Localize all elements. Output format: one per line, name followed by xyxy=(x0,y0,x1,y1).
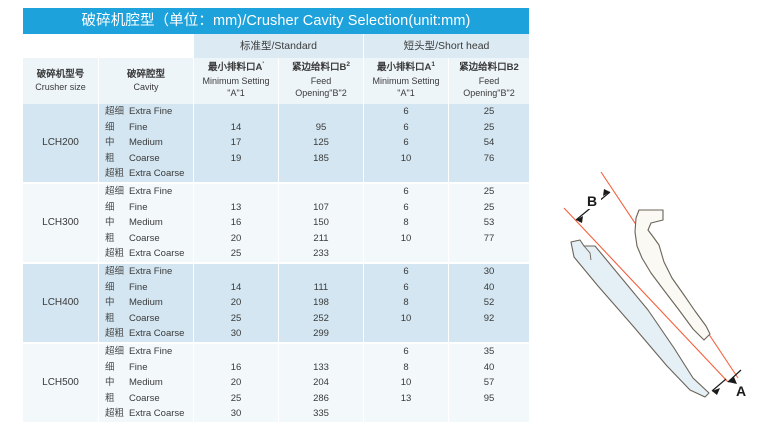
cell-cavity-cn: 粗 xyxy=(105,231,129,247)
cell-cavity-cn: 超细 xyxy=(105,344,129,360)
cell-cavity-en: Coarse xyxy=(129,151,160,167)
column-header-std-feed-opening: 紧边给料口B2 Feed Opening"B"2 xyxy=(279,58,363,104)
cell-std-min-setting: 17 xyxy=(194,135,278,151)
table-row: 超粗Extra Coarse30299 xyxy=(23,326,529,342)
cell-sh-feed-opening: 40 xyxy=(449,360,529,376)
cell-std-min-setting xyxy=(194,104,278,120)
cell-cavity-en: Extra Coarse xyxy=(129,326,184,342)
table-row: 超粗Extra Coarse30335 xyxy=(23,406,529,422)
page-root: 破碎机腔型（单位：mm)/Crusher Cavity Selection(un… xyxy=(0,0,766,442)
cell-std-feed-opening: 150 xyxy=(279,215,363,231)
cell-sh-min-setting: 6 xyxy=(364,280,448,296)
column-header-crusher-size-cn: 破碎机型号 xyxy=(23,69,98,82)
cell-std-feed-opening: 286 xyxy=(279,391,363,407)
cell-std-min-setting: 20 xyxy=(194,295,278,311)
cell-std-feed-opening: 204 xyxy=(279,375,363,391)
cell-std-feed-opening xyxy=(279,184,363,200)
cell-std-feed-opening xyxy=(279,166,363,182)
cell-std-feed-opening: 335 xyxy=(279,406,363,422)
cell-cavity-en: Coarse xyxy=(129,391,160,407)
cell-std-min-setting: 30 xyxy=(194,326,278,342)
cell-cavity-en: Extra Coarse xyxy=(129,406,184,422)
column-header-sh-feed-opening-en2: Opening"B"2 xyxy=(449,87,529,100)
cell-cavity-cn: 中 xyxy=(105,375,129,391)
group-header-row: 标准型/Standard 短头型/Short head xyxy=(23,34,529,58)
cell-sh-min-setting xyxy=(364,326,448,342)
cell-cavity-cn: 细 xyxy=(105,280,129,296)
column-header-cavity-en: Cavity xyxy=(99,81,193,94)
group-header-blank-left2 xyxy=(99,34,193,58)
cell-sh-min-setting: 13 xyxy=(364,391,448,407)
cell-cavity: 粗Coarse xyxy=(99,311,193,327)
arrow-head-a-lower xyxy=(712,388,720,395)
cell-cavity: 超粗Extra Coarse xyxy=(99,166,193,182)
cell-cavity-cn: 超粗 xyxy=(105,246,129,262)
cell-cavity-en: Extra Fine xyxy=(129,344,172,360)
column-header-std-min-setting-sup: ' xyxy=(262,61,264,68)
cell-std-min-setting: 16 xyxy=(194,360,278,376)
group-header-standard: 标准型/Standard xyxy=(194,34,363,58)
cell-cavity: 中Medium xyxy=(99,215,193,231)
cell-sh-min-setting xyxy=(364,166,448,182)
cell-cavity-cn: 中 xyxy=(105,295,129,311)
cell-cavity-cn: 超粗 xyxy=(105,166,129,182)
cell-std-min-setting: 25 xyxy=(194,311,278,327)
cell-cavity-cn: 中 xyxy=(105,215,129,231)
crusher-cavity-table-container: 破碎机腔型（单位：mm)/Crusher Cavity Selection(un… xyxy=(22,8,528,422)
column-header-sh-min-setting-sup: 1 xyxy=(431,61,435,68)
cell-std-feed-opening: 133 xyxy=(279,360,363,376)
cell-sh-feed-opening: 25 xyxy=(449,104,529,120)
group-header-blank-left xyxy=(23,34,98,58)
cell-std-min-setting: 20 xyxy=(194,231,278,247)
cell-cavity-cn: 超细 xyxy=(105,264,129,280)
table-row: 细Fine1495625 xyxy=(23,120,529,136)
cell-std-feed-opening: 125 xyxy=(279,135,363,151)
table-row: 细Fine16133840 xyxy=(23,360,529,376)
cell-sh-min-setting: 8 xyxy=(364,295,448,311)
cell-sh-feed-opening: 76 xyxy=(449,151,529,167)
column-header-sh-feed-opening: 紧边给料口B2 Feed Opening"B"2 xyxy=(449,58,529,104)
table-title-row: 破碎机腔型（单位：mm)/Crusher Cavity Selection(un… xyxy=(23,8,529,34)
cell-cavity-en: Extra Fine xyxy=(129,264,172,280)
cell-sh-feed-opening: 30 xyxy=(449,264,529,280)
column-header-sh-min-setting-cn: 最小排料口A1 xyxy=(364,62,448,75)
cell-cavity: 中Medium xyxy=(99,295,193,311)
cell-sh-min-setting: 10 xyxy=(364,375,448,391)
cell-cavity: 细Fine xyxy=(99,120,193,136)
cell-cavity-en: Coarse xyxy=(129,311,160,327)
column-header-cavity: 破碎腔型 Cavity xyxy=(99,58,193,104)
cell-cavity-en: Fine xyxy=(129,280,147,296)
cell-std-feed-opening: 185 xyxy=(279,151,363,167)
column-header-cavity-cn: 破碎腔型 xyxy=(99,69,193,82)
column-header-std-min-setting-en: Minimum Setting xyxy=(194,75,278,88)
cell-cavity: 超粗Extra Coarse xyxy=(99,406,193,422)
cell-cavity: 细Fine xyxy=(99,200,193,216)
cell-cavity-en: Fine xyxy=(129,200,147,216)
dimension-label-b: B xyxy=(587,193,597,209)
cell-cavity-cn: 超粗 xyxy=(105,326,129,342)
cell-std-min-setting xyxy=(194,166,278,182)
cell-std-min-setting: 20 xyxy=(194,375,278,391)
cell-sh-min-setting: 10 xyxy=(364,151,448,167)
table-row: 粗Coarse252861395 xyxy=(23,391,529,407)
cell-sh-feed-opening: 25 xyxy=(449,184,529,200)
table-row: 中Medium17125654 xyxy=(23,135,529,151)
cell-cavity-cn: 超细 xyxy=(105,184,129,200)
cell-sh-min-setting: 6 xyxy=(364,344,448,360)
cell-cavity: 中Medium xyxy=(99,375,193,391)
cell-std-feed-opening xyxy=(279,344,363,360)
cell-cavity-en: Fine xyxy=(129,120,147,136)
cell-sh-feed-opening xyxy=(449,326,529,342)
table-row: LCH400超细Extra Fine630 xyxy=(23,264,529,280)
cell-std-min-setting: 14 xyxy=(194,120,278,136)
cell-sh-feed-opening: 57 xyxy=(449,375,529,391)
cell-cavity-cn: 中 xyxy=(105,135,129,151)
table-row: 细Fine13107625 xyxy=(23,200,529,216)
table-row: LCH500超细Extra Fine635 xyxy=(23,344,529,360)
cell-cavity: 超粗Extra Coarse xyxy=(99,326,193,342)
cell-std-min-setting: 19 xyxy=(194,151,278,167)
crusher-cavity-table: 破碎机腔型（单位：mm)/Crusher Cavity Selection(un… xyxy=(22,8,530,422)
cell-cavity: 超细Extra Fine xyxy=(99,264,193,280)
cell-cavity-cn: 细 xyxy=(105,200,129,216)
table-row: 细Fine14111640 xyxy=(23,280,529,296)
cell-cavity-cn: 细 xyxy=(105,120,129,136)
cell-cavity-en: Extra Fine xyxy=(129,104,172,120)
cell-model: LCH200 xyxy=(23,104,98,182)
cell-std-feed-opening: 198 xyxy=(279,295,363,311)
column-header-std-min-setting-cn: 最小排料口A' xyxy=(194,62,278,75)
cell-sh-feed-opening: 77 xyxy=(449,231,529,247)
cell-cavity-en: Medium xyxy=(129,375,163,391)
column-header-std-feed-opening-en: Feed xyxy=(279,75,363,88)
cell-sh-feed-opening: 25 xyxy=(449,200,529,216)
cell-cavity-en: Medium xyxy=(129,215,163,231)
cell-cavity-cn: 细 xyxy=(105,360,129,376)
cell-sh-min-setting xyxy=(364,246,448,262)
page-title: 破碎机腔型（单位：mm)/Crusher Cavity Selection(un… xyxy=(23,8,529,34)
cell-sh-min-setting: 10 xyxy=(364,231,448,247)
cell-std-feed-opening xyxy=(279,104,363,120)
cell-cavity-en: Extra Coarse xyxy=(129,166,184,182)
table-row: 超粗Extra Coarse xyxy=(23,166,529,182)
cell-cavity-en: Extra Coarse xyxy=(129,246,184,262)
cell-sh-min-setting: 10 xyxy=(364,311,448,327)
cell-std-min-setting: 13 xyxy=(194,200,278,216)
cell-cavity: 粗Coarse xyxy=(99,151,193,167)
column-header-std-min-setting-en2: "A"1 xyxy=(194,87,278,100)
cell-std-feed-opening: 95 xyxy=(279,120,363,136)
cell-cavity-en: Coarse xyxy=(129,231,160,247)
cell-cavity: 细Fine xyxy=(99,280,193,296)
cell-model: LCH300 xyxy=(23,184,98,262)
table-row: 粗Coarse191851076 xyxy=(23,151,529,167)
cell-sh-min-setting: 6 xyxy=(364,135,448,151)
group-header-short-head: 短头型/Short head xyxy=(364,34,529,58)
cell-sh-feed-opening: 92 xyxy=(449,311,529,327)
cell-std-min-setting xyxy=(194,264,278,280)
cell-cavity-cn: 粗 xyxy=(105,151,129,167)
cell-cavity: 超粗Extra Coarse xyxy=(99,246,193,262)
cell-sh-min-setting: 8 xyxy=(364,215,448,231)
cell-std-min-setting: 25 xyxy=(194,246,278,262)
cell-sh-min-setting xyxy=(364,406,448,422)
cell-sh-feed-opening: 25 xyxy=(449,120,529,136)
column-header-sh-min-setting: 最小排料口A1 Minimum Setting "A"1 xyxy=(364,58,448,104)
cell-sh-min-setting: 6 xyxy=(364,264,448,280)
cell-std-min-setting xyxy=(194,184,278,200)
cell-std-feed-opening: 107 xyxy=(279,200,363,216)
table-row: 中Medium202041057 xyxy=(23,375,529,391)
table-row: 粗Coarse202111077 xyxy=(23,231,529,247)
cell-cavity-cn: 超细 xyxy=(105,104,129,120)
column-header-std-min-setting: 最小排料口A' Minimum Setting "A"1 xyxy=(194,58,278,104)
column-header-std-feed-opening-sup: 2 xyxy=(346,61,350,68)
cell-std-min-setting xyxy=(194,344,278,360)
table-row: 中Medium20198852 xyxy=(23,295,529,311)
cell-std-feed-opening: 299 xyxy=(279,326,363,342)
column-header-std-feed-opening-cn: 紧边给料口B2 xyxy=(279,62,363,75)
cell-std-feed-opening: 233 xyxy=(279,246,363,262)
table-row: 超粗Extra Coarse25233 xyxy=(23,246,529,262)
column-header-row: 破碎机型号 Crusher size 破碎腔型 Cavity 最小排料口A' M… xyxy=(23,58,529,104)
cell-sh-feed-opening: 53 xyxy=(449,215,529,231)
column-header-std-feed-opening-en2: Opening"B"2 xyxy=(279,87,363,100)
cell-sh-feed-opening: 54 xyxy=(449,135,529,151)
cell-cavity: 超细Extra Fine xyxy=(99,344,193,360)
cell-sh-feed-opening: 35 xyxy=(449,344,529,360)
cell-sh-feed-opening xyxy=(449,406,529,422)
cell-cavity: 超细Extra Fine xyxy=(99,104,193,120)
cell-std-feed-opening: 211 xyxy=(279,231,363,247)
column-header-sh-feed-opening-en: Feed xyxy=(449,75,529,88)
table-row: LCH200超细Extra Fine625 xyxy=(23,104,529,120)
dimension-label-a: A xyxy=(736,383,746,399)
cell-sh-feed-opening xyxy=(449,246,529,262)
column-header-sh-feed-opening-cn: 紧边给料口B2 xyxy=(449,62,529,75)
cell-std-feed-opening: 111 xyxy=(279,280,363,296)
cell-cavity: 粗Coarse xyxy=(99,391,193,407)
cell-sh-feed-opening: 95 xyxy=(449,391,529,407)
cell-model: LCH400 xyxy=(23,264,98,342)
cell-sh-min-setting: 6 xyxy=(364,104,448,120)
cell-std-min-setting: 25 xyxy=(194,391,278,407)
table-row: 粗Coarse252521092 xyxy=(23,311,529,327)
table-row: LCH300超细Extra Fine625 xyxy=(23,184,529,200)
cell-sh-min-setting: 8 xyxy=(364,360,448,376)
column-header-crusher-size-en: Crusher size xyxy=(23,81,98,94)
cell-sh-feed-opening: 52 xyxy=(449,295,529,311)
cell-model: LCH500 xyxy=(23,344,98,422)
cell-sh-min-setting: 6 xyxy=(364,184,448,200)
column-header-sh-min-setting-en: Minimum Setting xyxy=(364,75,448,88)
cell-cavity: 细Fine xyxy=(99,360,193,376)
cell-sh-feed-opening xyxy=(449,166,529,182)
cell-std-feed-opening: 252 xyxy=(279,311,363,327)
cell-sh-feed-opening: 40 xyxy=(449,280,529,296)
cell-std-min-setting: 14 xyxy=(194,280,278,296)
cell-cavity-cn: 粗 xyxy=(105,391,129,407)
table-row: 中Medium16150853 xyxy=(23,215,529,231)
column-header-crusher-size: 破碎机型号 Crusher size xyxy=(23,58,98,104)
cell-cavity-en: Medium xyxy=(129,295,163,311)
crusher-cavity-diagram: B A xyxy=(538,150,766,442)
cell-std-feed-opening xyxy=(279,264,363,280)
cell-cavity: 中Medium xyxy=(99,135,193,151)
cell-cavity-en: Fine xyxy=(129,360,147,376)
cell-cavity-cn: 超粗 xyxy=(105,406,129,422)
cell-cavity: 超细Extra Fine xyxy=(99,184,193,200)
column-header-sh-min-setting-en2: "A"1 xyxy=(364,87,448,100)
cell-sh-min-setting: 6 xyxy=(364,200,448,216)
cell-cavity-cn: 粗 xyxy=(105,311,129,327)
cell-cavity-en: Medium xyxy=(129,135,163,151)
cell-cavity-en: Extra Fine xyxy=(129,184,172,200)
cell-std-min-setting: 30 xyxy=(194,406,278,422)
cell-sh-min-setting: 6 xyxy=(364,120,448,136)
cell-std-min-setting: 16 xyxy=(194,215,278,231)
table-body: LCH200超细Extra Fine625细Fine1495625中Medium… xyxy=(23,104,529,422)
cell-cavity: 粗Coarse xyxy=(99,231,193,247)
